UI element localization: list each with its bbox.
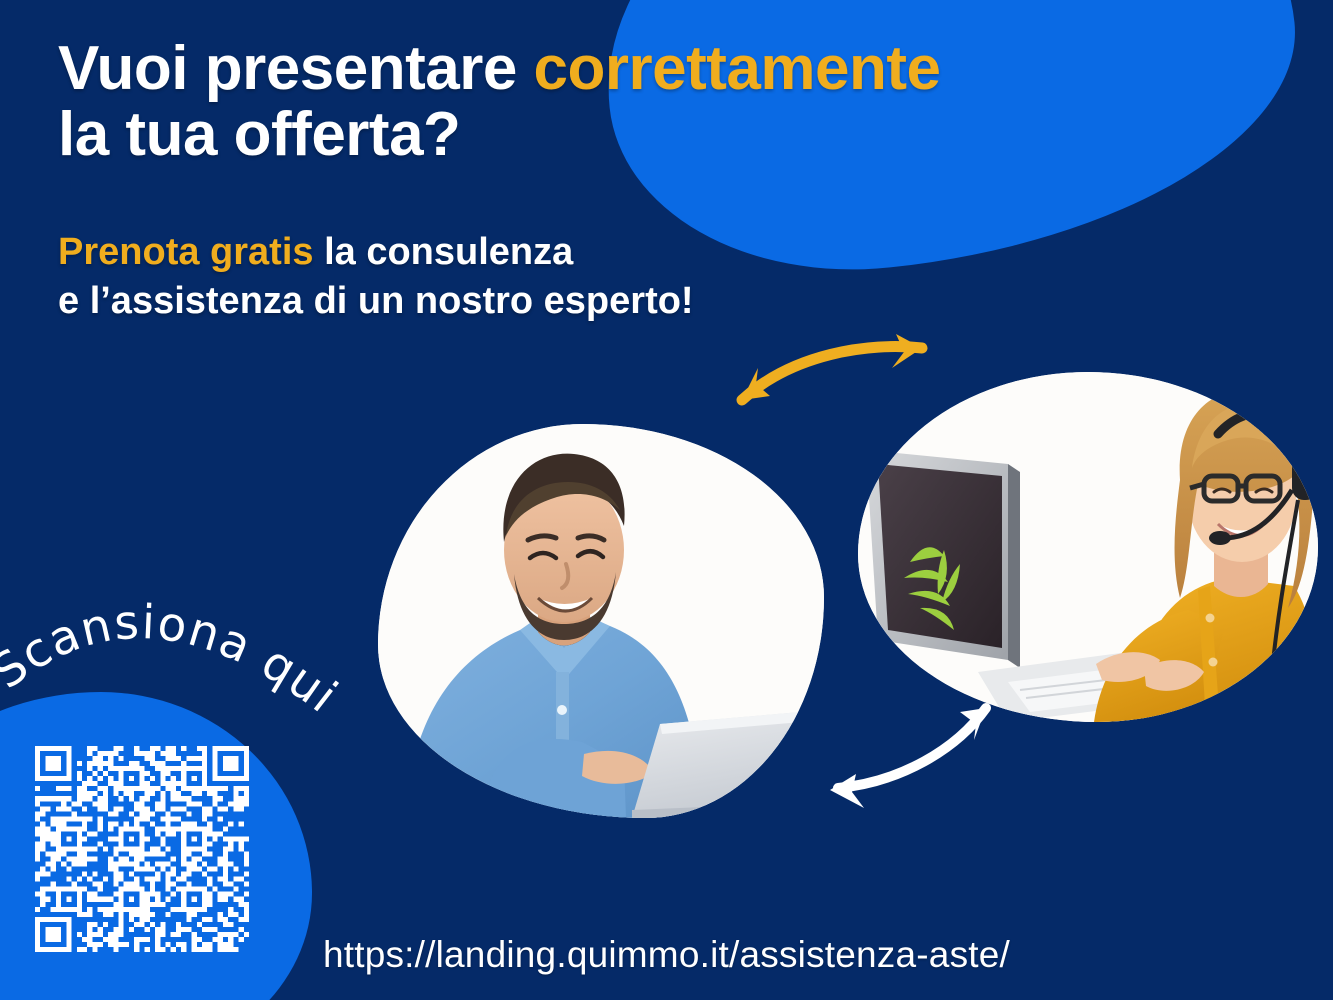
page-subtitle: Prenota gratis la consulenza e l’assiste… (58, 228, 958, 327)
subhead-line1-accent: Prenota gratis (58, 231, 314, 273)
photo-woman-headset (858, 372, 1318, 722)
headline-line1-accent: correttamente (534, 34, 941, 103)
headline-line1-plain: Vuoi presentare (58, 34, 534, 103)
qr-code[interactable] (35, 746, 249, 952)
subhead-line1-plain: la consulenza (314, 231, 574, 273)
subhead-line2: e l’assistenza di un nostro esperto! (58, 280, 694, 322)
photo-man-laptop (378, 424, 824, 818)
headline-line2: la tua offerta? (58, 100, 460, 169)
promo-poster: Vuoi presentare correttamente la tua off… (0, 0, 1333, 1000)
qr-canvas[interactable] (35, 746, 249, 952)
page-title: Vuoi presentare correttamente la tua off… (58, 36, 1238, 167)
landing-page-url[interactable]: https://landing.quimmo.it/assistenza-ast… (0, 934, 1333, 976)
scan-here-text: Scansiona qui (0, 595, 348, 725)
scan-here-textpath: Scansiona qui (0, 595, 348, 725)
